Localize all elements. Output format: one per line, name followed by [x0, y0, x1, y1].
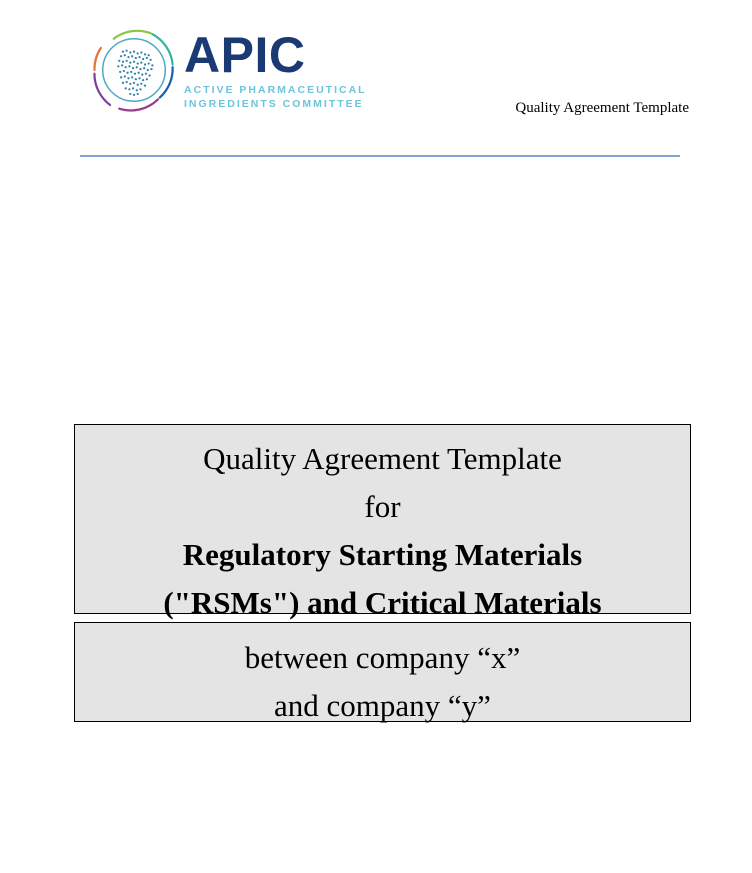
apic-tagline-line-1: ACTIVE PHARMACEUTICAL	[184, 83, 367, 97]
document-page: APIC ACTIVE PHARMACEUTICAL INGREDIENTS C…	[0, 0, 752, 873]
apic-logo: APIC ACTIVE PHARMACEUTICAL INGREDIENTS C…	[88, 24, 367, 116]
title-line-3: Regulatory Starting Materials	[75, 531, 690, 579]
title-line-2: for	[75, 483, 690, 531]
primary-title-box: Quality Agreement Template for Regulator…	[74, 424, 691, 614]
page-header: APIC ACTIVE PHARMACEUTICAL INGREDIENTS C…	[0, 0, 752, 170]
apic-tagline: ACTIVE PHARMACEUTICAL INGREDIENTS COMMIT…	[184, 83, 367, 111]
title-line-4: ("RSMs") and Critical Materials	[75, 579, 690, 627]
header-document-title: Quality Agreement Template	[515, 99, 689, 117]
apic-tagline-line-2: INGREDIENTS COMMITTEE	[184, 97, 367, 111]
parties-line-1: between company “x”	[75, 634, 690, 682]
parties-title-box: between company “x” and company “y”	[74, 622, 691, 722]
header-divider	[80, 155, 680, 157]
apic-logo-text: APIC ACTIVE PHARMACEUTICAL INGREDIENTS C…	[184, 24, 367, 111]
apic-globe-logo-icon	[88, 24, 180, 116]
title-line-1: Quality Agreement Template	[75, 435, 690, 483]
parties-line-2: and company “y”	[75, 682, 690, 730]
apic-wordmark: APIC	[184, 30, 367, 80]
